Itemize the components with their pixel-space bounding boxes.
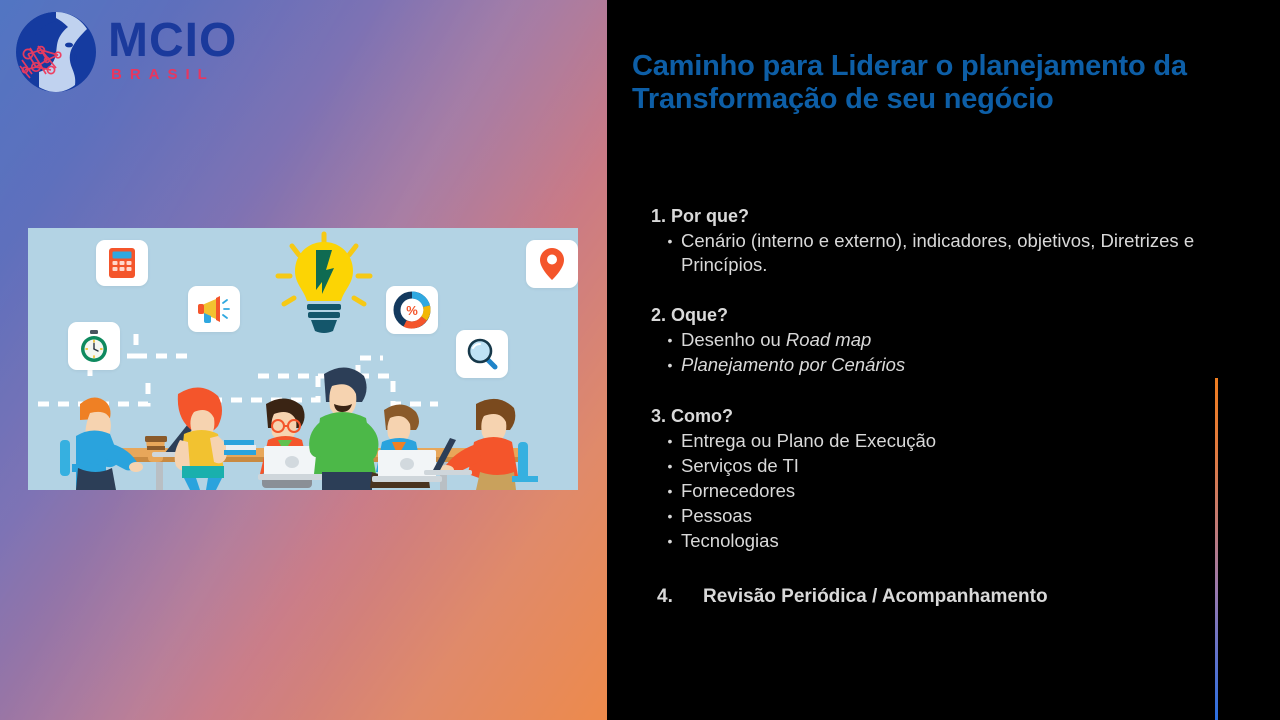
final-item-number: 4.	[657, 584, 703, 610]
list-item: • Pessoas	[659, 504, 1245, 529]
person-blue-shirt	[60, 397, 143, 490]
list-item-text-plain: Desenho ou	[681, 329, 786, 350]
list-item-text: Tecnologias	[681, 529, 1245, 554]
person-green-sweater	[309, 367, 378, 490]
list-item: • Planejamento por Cenários	[659, 353, 1245, 378]
section-heading: 3. Como?	[651, 404, 1245, 428]
list-item-text-italic: Road map	[786, 329, 871, 350]
list-item-text: Entrega ou Plano de Execução	[681, 429, 1245, 454]
section-por-que: 1. Por que? • Cenário (interno e externo…	[645, 204, 1245, 277]
accent-gradient-line	[1215, 378, 1218, 720]
content-panel: Caminho para Liderar o planejamento da T…	[607, 0, 1280, 720]
mcio-logo: MCIO BRASIL	[12, 8, 302, 96]
section-spacer	[645, 277, 1245, 303]
list-item-text: Pessoas	[681, 504, 1245, 529]
laptop-icon	[372, 450, 442, 482]
section-heading: 2. Oque?	[651, 303, 1245, 327]
people-group	[28, 228, 578, 490]
list-item: • Serviços de TI	[659, 454, 1245, 479]
list-item: • Cenário (interno e externo), indicador…	[659, 229, 1245, 277]
list-item-text: Serviços de TI	[681, 454, 1245, 479]
bullet-glyph: •	[659, 229, 681, 277]
logo-subbrand-text: BRASIL	[111, 66, 237, 84]
bullet-glyph: •	[659, 429, 681, 454]
list-item-text: Cenário (interno e externo), indicadores…	[681, 229, 1245, 277]
team-brainstorming-illustration: %	[28, 228, 578, 490]
section-heading: 1. Por que?	[651, 204, 1245, 228]
list-item-text: Planejamento por Cenários	[681, 353, 1245, 378]
bullet-glyph: •	[659, 454, 681, 479]
final-item-text: Revisão Periódica / Acompanhamento	[703, 584, 1048, 610]
mcio-head-profile-logo-icon	[12, 8, 100, 96]
books-stack	[224, 440, 256, 455]
logo-brand-text: MCIO	[108, 16, 237, 66]
left-gradient-panel: MCIO BRASIL	[0, 0, 607, 720]
section-como: 3. Como? • Entrega ou Plano de Execução …	[645, 404, 1245, 554]
presentation-slide: MCIO BRASIL	[0, 0, 1280, 720]
bullet-glyph: •	[659, 504, 681, 529]
bullet-glyph: •	[659, 353, 681, 378]
list-item-text: Desenho ou Road map	[681, 328, 1245, 353]
list-item: • Entrega ou Plano de Execução	[659, 429, 1245, 454]
slide-body: 1. Por que? • Cenário (interno e externo…	[645, 204, 1245, 610]
section-spacer	[645, 378, 1245, 404]
section-oque: 2. Oque? • Desenho ou Road map • Planeja…	[645, 303, 1245, 378]
coffee-cup-icon	[145, 436, 167, 462]
bullet-glyph: •	[659, 328, 681, 353]
logo-wordmark: MCIO BRASIL	[108, 16, 237, 84]
bullet-glyph: •	[659, 529, 681, 554]
slide-title: Caminho para Liderar o planejamento da T…	[632, 50, 1212, 116]
list-item: • Fornecedores	[659, 479, 1245, 504]
list-item: • Tecnologias	[659, 529, 1245, 554]
list-item: • Desenho ou Road map	[659, 328, 1245, 353]
final-numbered-item: 4. Revisão Periódica / Acompanhamento	[657, 584, 1245, 610]
list-item-text: Fornecedores	[681, 479, 1245, 504]
bullet-glyph: •	[659, 479, 681, 504]
